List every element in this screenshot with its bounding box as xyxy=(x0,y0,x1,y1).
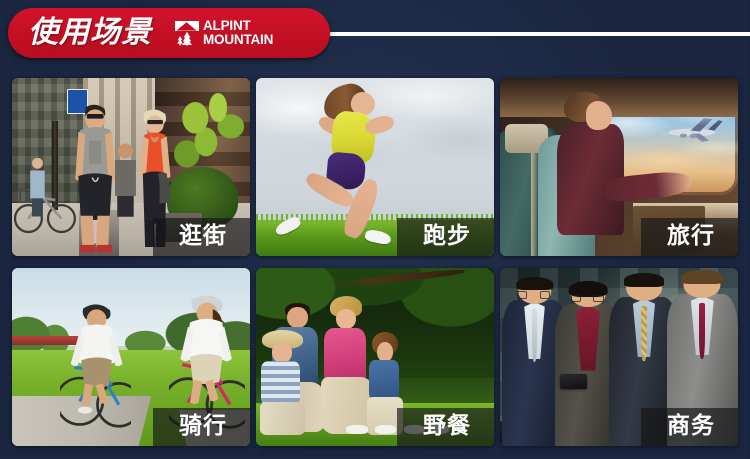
photo-man-walking xyxy=(69,101,121,254)
photo-eyeglasses-right xyxy=(540,291,550,298)
mountain-tree-logo-icon xyxy=(174,20,200,46)
photo-shoe-2 xyxy=(375,425,396,434)
photo-eyeglasses-right xyxy=(593,295,604,302)
photo-eyeglasses-left xyxy=(517,291,527,298)
section-title-banner: 使用场景 xyxy=(8,8,330,58)
photo-necktie xyxy=(532,309,537,363)
photo-toddler-top xyxy=(369,360,399,402)
section-header: 使用场景 xyxy=(0,0,750,66)
photo-girl-with-hat xyxy=(256,332,308,435)
tile-cycling[interactable]: 骑行 xyxy=(12,268,250,446)
photo-mother-head xyxy=(336,309,355,329)
tile-travel[interactable]: 旅行 xyxy=(500,78,738,256)
photo-girl-head xyxy=(272,342,292,363)
page-title: 使用场景 xyxy=(28,18,152,48)
brand-logo: ALPINT MOUNTAIN xyxy=(174,19,273,47)
photo-passenger-head xyxy=(586,101,612,129)
scenario-grid: 逛街 跑步 xyxy=(12,78,738,446)
photo-toddler-head xyxy=(377,342,393,362)
photo-handheld-device xyxy=(560,374,587,389)
photo-father-head xyxy=(287,307,308,328)
photo-cabin-ceiling xyxy=(500,78,738,117)
brand-logo-text: ALPINT MOUNTAIN xyxy=(203,19,273,47)
brand-name-line1: ALPINT xyxy=(203,19,273,33)
photo-airplane-icon xyxy=(652,115,729,146)
tile-label: 旅行 xyxy=(641,218,738,256)
photo-hair xyxy=(516,277,553,290)
photo-necktie xyxy=(699,303,705,359)
photo-girl-pants xyxy=(260,402,305,435)
photo-shoe-1 xyxy=(346,425,367,434)
tile-running[interactable]: 跑步 xyxy=(256,78,494,256)
photo-hair xyxy=(624,273,664,287)
tile-label: 野餐 xyxy=(397,408,494,446)
brand-name-line2: MOUNTAIN xyxy=(203,33,273,47)
tile-label: 骑行 xyxy=(153,408,250,446)
photo-necktie xyxy=(641,306,647,361)
tile-shopping[interactable]: 逛街 xyxy=(12,78,250,256)
tile-label: 商务 xyxy=(641,408,738,446)
photo-cyclist-male xyxy=(60,289,131,439)
photo-girl-striped-top xyxy=(261,361,300,406)
tile-picnic[interactable]: 野餐 xyxy=(256,268,494,446)
photo-hair xyxy=(682,270,723,284)
tile-label: 逛街 xyxy=(153,218,250,256)
usage-scenarios-banner: 使用场景 xyxy=(0,0,750,459)
photo-foliage xyxy=(174,92,245,177)
photo-eyeglasses-left xyxy=(571,295,582,302)
tile-label: 跑步 xyxy=(397,218,494,256)
tile-business[interactable]: 商务 xyxy=(500,268,738,446)
photo-pedestrian-background-1 xyxy=(22,156,53,217)
